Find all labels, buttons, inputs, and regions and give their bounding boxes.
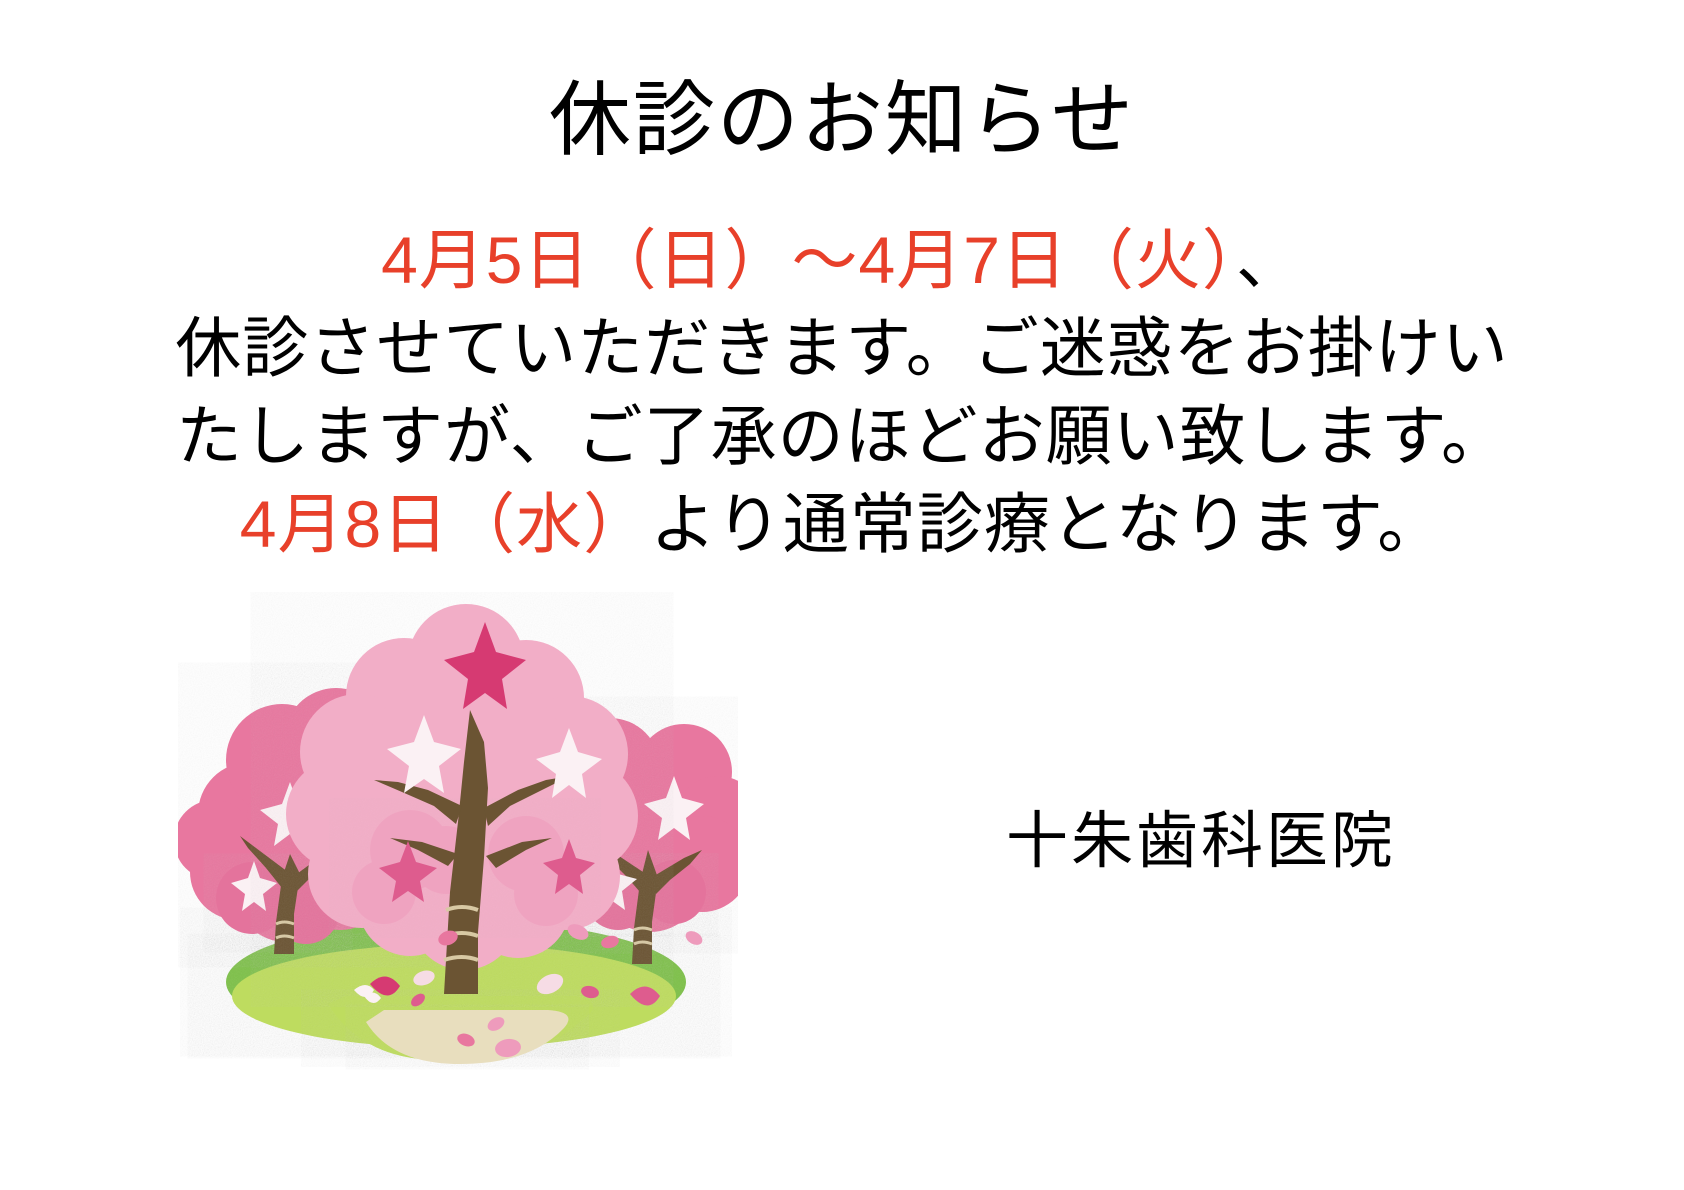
closure-date-range: 4月5日（日）～4月7日（火） — [381, 223, 1236, 297]
reopen-notice-text: より通常診療となります。 — [650, 487, 1444, 561]
apology-text: たしますが、ご了承のほどお願い致します。 — [176, 399, 1508, 473]
closure-notice-text: 休診させていただきます。ご迷惑をお掛けい — [175, 311, 1508, 385]
body-line-reopen: 4月8日（水）より通常診療となります。 — [0, 480, 1684, 568]
body-line-closure-notice: 休診させていただきます。ご迷惑をお掛けい — [0, 304, 1684, 392]
page-title: 休診のお知らせ — [0, 78, 1684, 164]
closure-date-trailing-comma: 、 — [1236, 223, 1303, 297]
notice-body: 4月5日（日）～4月7日（火）、 休診させていただきます。ご迷惑をお掛けい たし… — [0, 216, 1684, 568]
body-line-closure-dates: 4月5日（日）～4月7日（火）、 — [0, 216, 1684, 304]
body-line-apology: たしますが、ご了承のほどお願い致します。 — [0, 392, 1684, 480]
notice-page: 休診のお知らせ 4月5日（日）～4月7日（火）、 休診させていただきます。ご迷惑… — [0, 0, 1684, 1190]
reopen-date: 4月8日（水） — [240, 487, 650, 561]
clinic-name: 十朱歯科医院 — [1006, 808, 1396, 876]
cherry-blossom-trees-illustration — [178, 592, 738, 1072]
